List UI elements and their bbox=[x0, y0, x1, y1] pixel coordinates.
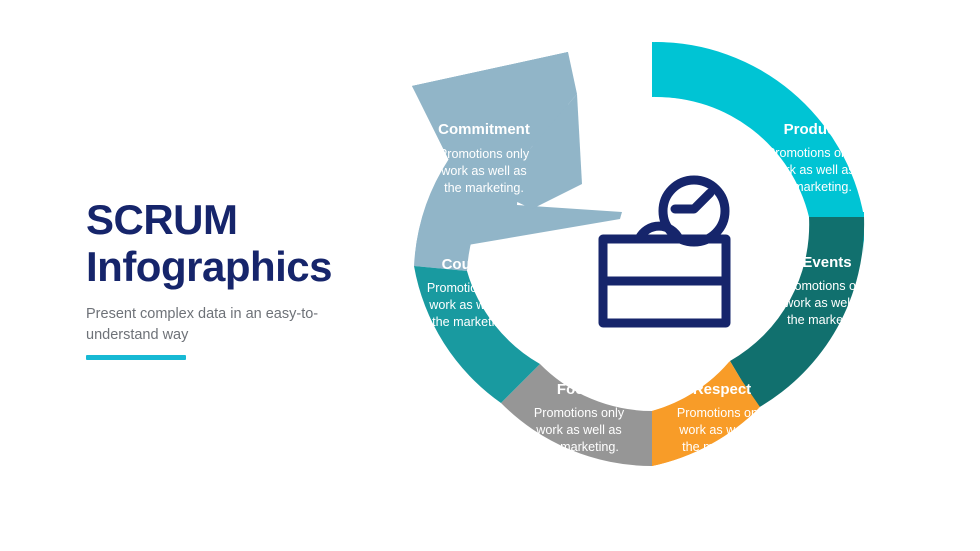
segment-events-line-1: Promotions only bbox=[782, 279, 873, 293]
segment-courage[interactable]: Courage Promotions only work as well as … bbox=[414, 256, 540, 403]
segment-events-title: Events bbox=[802, 254, 851, 271]
clock-hands-icon bbox=[675, 193, 710, 209]
briefcase-handle-icon bbox=[639, 226, 679, 239]
title-block: SCRUM Infographics Present complex data … bbox=[86, 196, 366, 345]
segment-respect-line-3: the marketing. bbox=[682, 440, 762, 454]
segment-respect-title: Respect bbox=[693, 381, 751, 398]
segment-product-line-1: Promotions only bbox=[767, 146, 858, 160]
segment-events-line-3: the marketing. bbox=[787, 313, 867, 327]
slide-canvas: SCRUM Infographics Present complex data … bbox=[0, 0, 980, 551]
clock-face-icon bbox=[663, 180, 725, 242]
segment-courage-line-3: the marketing. bbox=[432, 315, 512, 329]
segment-respect-line-2: work as well as bbox=[678, 423, 764, 437]
segment-respect-line-1: Promotions only bbox=[677, 406, 768, 420]
segment-product-title: Product bbox=[784, 121, 841, 138]
segment-focus-title: Focus bbox=[557, 381, 601, 398]
segment-commitment[interactable]: Commitment Promotions only work as well … bbox=[412, 52, 622, 271]
segment-events[interactable]: Events Promotions only work as well as t… bbox=[730, 217, 873, 408]
title-line-1: SCRUM bbox=[86, 196, 366, 243]
segment-courage-line-1: Promotions only bbox=[427, 281, 518, 295]
briefcase-body-icon bbox=[603, 239, 726, 323]
segment-commitment-line-3: the marketing. bbox=[444, 181, 524, 195]
segment-commitment-line-2: work as well as bbox=[440, 164, 526, 178]
segment-focus-line-3: the marketing. bbox=[539, 440, 619, 454]
segment-commitment-title: Commitment bbox=[438, 121, 530, 138]
subtitle: Present complex data in an easy-to-under… bbox=[86, 304, 336, 345]
segment-product-line-3: the marketing. bbox=[772, 180, 852, 194]
segment-focus-line-1: Promotions only bbox=[534, 406, 625, 420]
segment-product-line-2: work as well as bbox=[768, 163, 854, 177]
segment-courage-title: Courage bbox=[442, 256, 503, 273]
title-line-2: Infographics bbox=[86, 243, 366, 290]
accent-underline bbox=[86, 355, 186, 360]
segment-courage-line-2: work as well as bbox=[428, 298, 514, 312]
scrum-cycle-diagram: Commitment Promotions only work as well … bbox=[372, 34, 932, 534]
segment-focus-line-2: work as well as bbox=[535, 423, 621, 437]
segment-events-line-2: work as well as bbox=[783, 296, 869, 310]
briefcase-clock-icon bbox=[603, 180, 726, 323]
page-title: SCRUM Infographics bbox=[86, 196, 366, 290]
segment-commitment-line-1: Promotions only bbox=[439, 147, 530, 161]
